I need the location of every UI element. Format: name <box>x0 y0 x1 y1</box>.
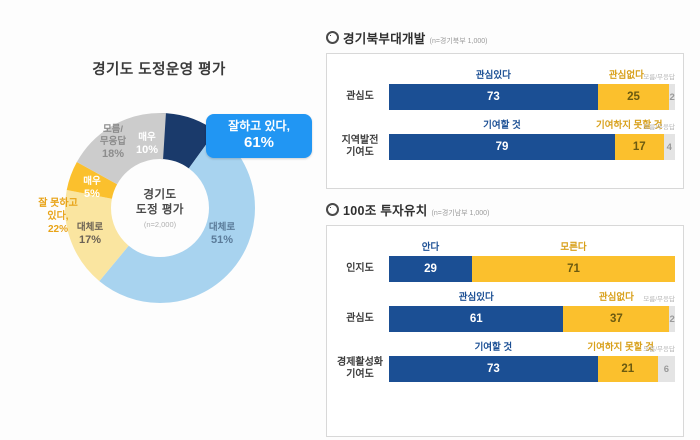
bar-segment-positive: 61 <box>389 306 563 332</box>
caption-positive: 기여할 것 <box>483 117 521 131</box>
bar-segment-negative: 37 <box>563 306 669 332</box>
section-100jo-investment: 100조 투자유치 (n=경기남부 1,000) 안다 모른다 인지도 <box>322 200 700 437</box>
bar-group-economic-contribution: 기여할 것 기여하지 못할 것 모름/무응답 경제활성화 기여도 73 21 <box>331 339 675 382</box>
caption-positive: 관심있다 <box>459 289 494 303</box>
row-label: 인지도 <box>331 263 389 276</box>
caption-positive: 안다 <box>422 239 439 253</box>
bar-segment-no-answer: 2 <box>669 84 675 110</box>
caption-negative: 관심없다 <box>599 289 634 303</box>
donut-panel: 경기도 도정운영 평가 경기도 도정 평가 (n=2,000) 매우 10% <box>0 0 318 440</box>
row-label-line1: 지역발전 <box>342 135 379 146</box>
row-label: 관심도 <box>331 91 389 104</box>
table-row: 관심도 73 25 2 <box>331 84 675 110</box>
section-1-header: 경기북부대개발 (n=경기북부 1,000) <box>326 28 700 47</box>
caption-no-answer: 모름/무응답 <box>643 71 675 81</box>
row-label-line1: 관심도 <box>346 313 374 324</box>
bullet-point-icon <box>326 203 339 216</box>
caption-no-answer: 모름/무응답 <box>643 293 675 303</box>
caption-no-answer: 모름/무응답 <box>643 343 675 353</box>
row-label-line1: 관심도 <box>346 91 374 102</box>
row-label-line1: 인지도 <box>346 263 374 274</box>
row-label-line1: 경제활성화 <box>337 357 383 368</box>
caption-strip: 안다 모른다 <box>389 239 675 254</box>
donut-callout-positive: 잘하고 있다, 61% <box>206 114 312 158</box>
table-row: 인지도 29 71 <box>331 256 675 282</box>
bullet-point-icon <box>326 31 339 44</box>
caption-positive: 관심있다 <box>476 67 511 81</box>
caption-strip: 기여할 것 기여하지 못할 것 모름/무응답 <box>389 339 675 354</box>
bar-group-interest-south: 관심있다 관심없다 모름/무응답 관심도 61 37 2 <box>331 289 675 332</box>
bar-segment-positive: 29 <box>389 256 472 282</box>
bar-track: 79 17 4 <box>389 134 675 160</box>
bar-track: 73 21 6 <box>389 356 675 382</box>
donut-title: 경기도 도정운영 평가 <box>0 58 318 79</box>
bar-segment-positive: 73 <box>389 84 598 110</box>
row-label-line2: 기여도 <box>346 147 374 158</box>
bar-segment-negative: 17 <box>615 134 664 160</box>
callout-line1: 잘하고 있다, <box>210 119 308 134</box>
bar-track: 29 71 <box>389 256 675 282</box>
bar-segment-no-answer: 6 <box>658 356 675 382</box>
bar-segment-negative: 71 <box>472 256 675 282</box>
section-2-title: 100조 투자유치 <box>343 200 428 219</box>
bar-area: 79 17 4 <box>389 134 675 160</box>
outside-label-line1: 잘 못하고 <box>38 198 78 209</box>
bar-charts-panel: 경기북부대개발 (n=경기북부 1,000) 관심있다 관심없다 모름/무응답 … <box>322 0 700 440</box>
bar-track: 73 25 2 <box>389 84 675 110</box>
callout-line2: 61% <box>210 134 308 152</box>
bar-area: 73 25 2 <box>389 84 675 110</box>
bar-segment-negative: 25 <box>598 84 670 110</box>
table-row: 경제활성화 기여도 73 21 6 <box>331 356 675 382</box>
row-label: 지역발전 기여도 <box>331 135 389 160</box>
bar-segment-positive: 73 <box>389 356 598 382</box>
caption-negative: 관심없다 <box>609 67 644 81</box>
row-label: 관심도 <box>331 313 389 326</box>
bar-area: 29 71 <box>389 256 675 282</box>
bar-segment-negative: 21 <box>598 356 658 382</box>
section-1-title: 경기북부대개발 <box>343 28 426 47</box>
bar-area: 73 21 6 <box>389 356 675 382</box>
outside-label-line2: 있다, <box>47 211 68 222</box>
bar-group-contribution-north: 기여할 것 기여하지 못할 것 모름/무응답 지역발전 기여도 79 17 <box>331 117 675 160</box>
bar-group-awareness: 안다 모른다 인지도 29 71 <box>331 239 675 282</box>
section-1-panel: 관심있다 관심없다 모름/무응답 관심도 73 25 2 <box>326 53 684 189</box>
outside-label-line3: 22% <box>48 224 68 235</box>
infographic-page: 경기도 도정운영 평가 경기도 도정 평가 (n=2,000) 매우 10% <box>0 0 700 440</box>
row-label: 경제활성화 기여도 <box>331 357 389 382</box>
section-2-panel: 안다 모른다 인지도 29 71 <box>326 225 684 437</box>
table-row: 관심도 61 37 2 <box>331 306 675 332</box>
row-label-line2: 기여도 <box>346 369 374 380</box>
caption-negative: 모른다 <box>560 239 586 253</box>
caption-no-answer: 모름/무응답 <box>643 121 675 131</box>
bar-track: 61 37 2 <box>389 306 675 332</box>
bar-segment-positive: 79 <box>389 134 615 160</box>
caption-strip: 관심있다 관심없다 모름/무응답 <box>389 67 675 82</box>
donut-outside-label-negative: 잘 못하고 있다, 22% <box>18 197 98 236</box>
table-row: 지역발전 기여도 79 17 4 <box>331 134 675 160</box>
bar-area: 61 37 2 <box>389 306 675 332</box>
bar-segment-no-answer: 2 <box>669 306 675 332</box>
caption-positive: 기여할 것 <box>475 339 513 353</box>
section-2-header: 100조 투자유치 (n=경기남부 1,000) <box>326 200 700 219</box>
section-1-sample-size: (n=경기북부 1,000) <box>430 36 488 46</box>
caption-strip: 기여할 것 기여하지 못할 것 모름/무응답 <box>389 117 675 132</box>
bar-group-interest-north: 관심있다 관심없다 모름/무응답 관심도 73 25 2 <box>331 67 675 110</box>
section-gyeonggi-bukbu: 경기북부대개발 (n=경기북부 1,000) 관심있다 관심없다 모름/무응답 … <box>322 28 700 189</box>
section-2-sample-size: (n=경기남부 1,000) <box>432 208 490 218</box>
caption-strip: 관심있다 관심없다 모름/무응답 <box>389 289 675 304</box>
bar-segment-no-answer: 4 <box>664 134 675 160</box>
